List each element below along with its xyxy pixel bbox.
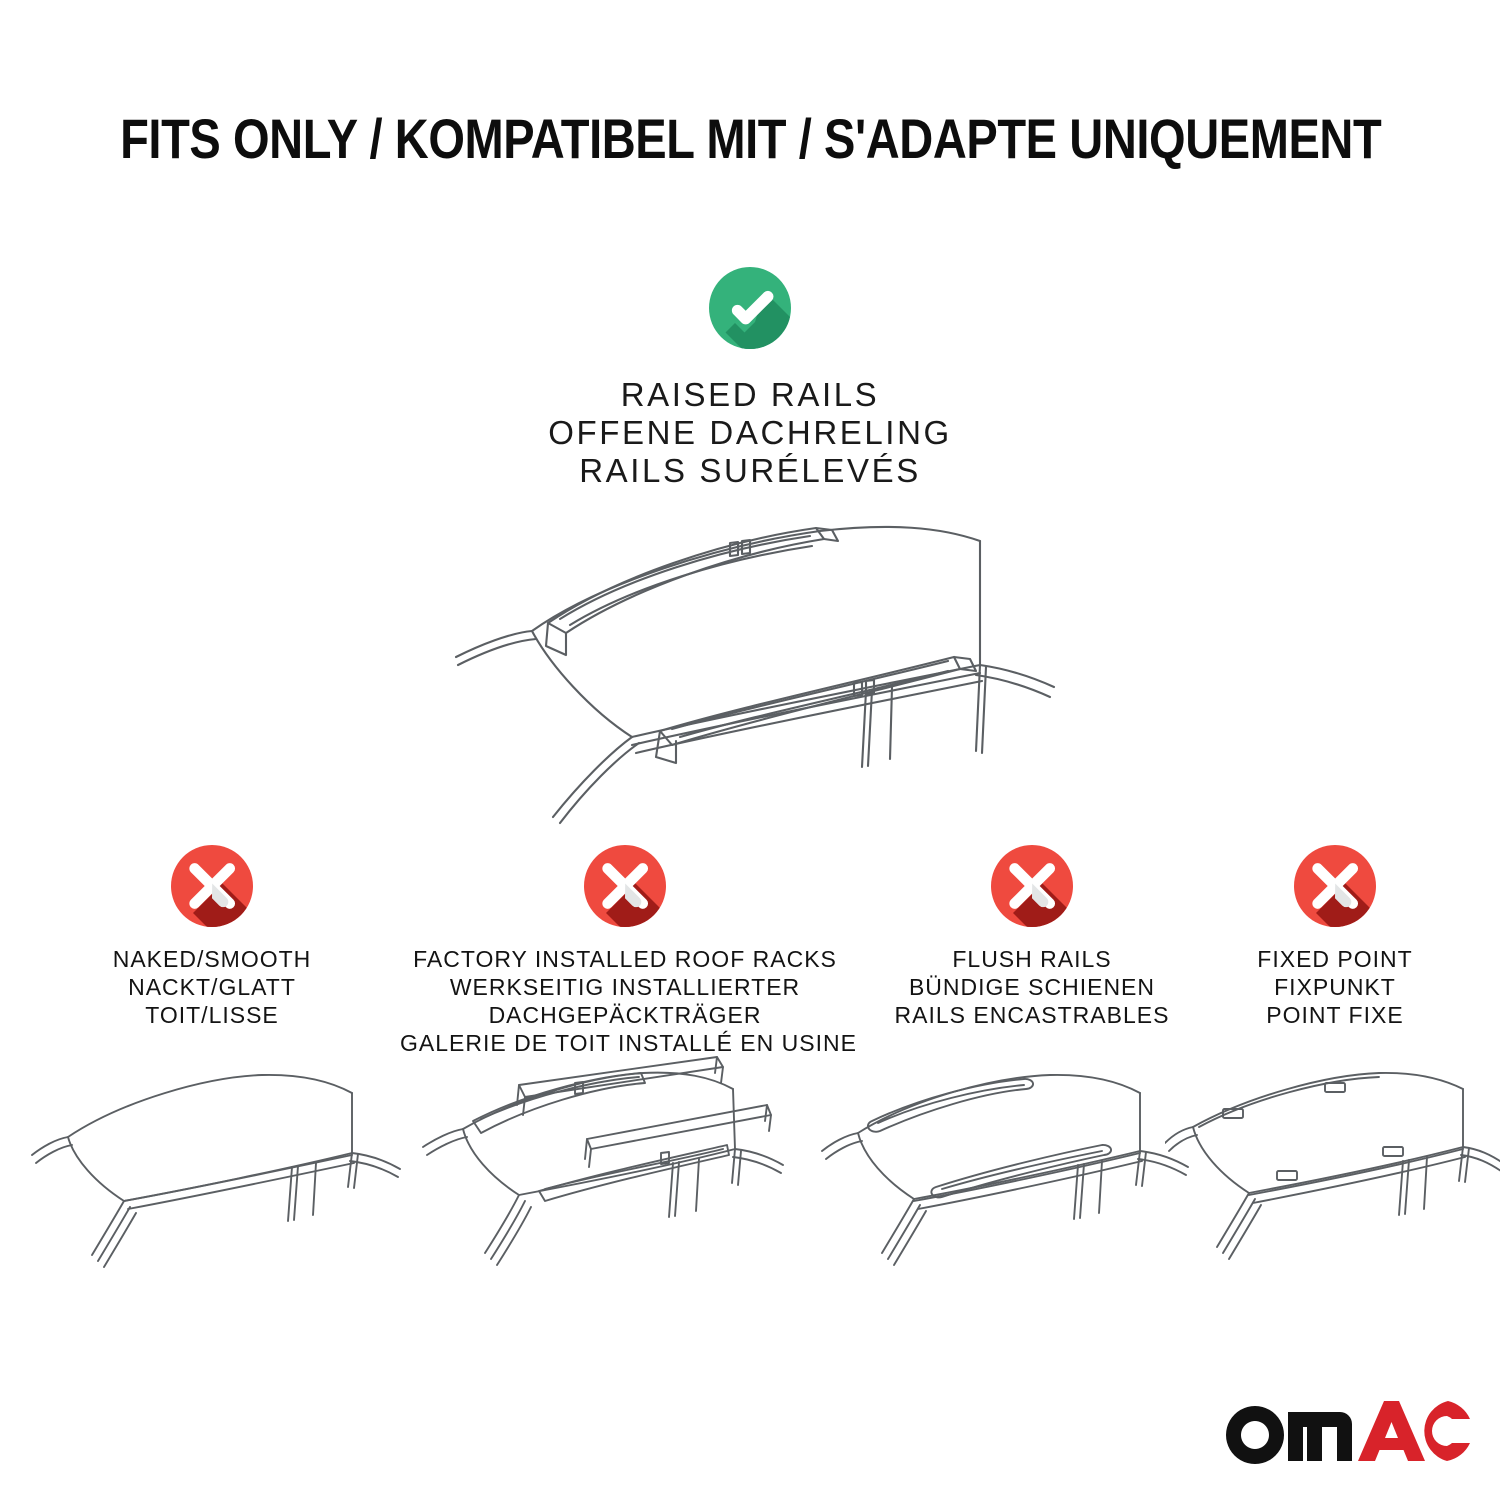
incompatible-caption: FLUSH RAILS BÜNDIGE SCHIENEN RAILS ENCAS… <box>857 945 1207 1029</box>
caption-line: FACTORY INSTALLED ROOF RACKS <box>400 945 850 973</box>
caption-line: FLUSH RAILS <box>857 945 1207 973</box>
caption-line: FIXED POINT <box>1200 945 1470 973</box>
caption-line: GALERIE DE TOIT INSTALLÉ EN USINE <box>400 1029 850 1057</box>
omac-logo <box>1222 1398 1470 1464</box>
incompatible-item-fixed-point: FIXED POINT FIXPUNKT POINT FIXE <box>1200 845 1470 1029</box>
incompatible-caption: NAKED/SMOOTH NACKT/GLATT TOIT/LISSE <box>22 945 402 1029</box>
caption-line: RAISED RAILS <box>0 376 1500 414</box>
check-circle-icon <box>709 267 791 349</box>
caption-line: WERKSEITIG INSTALLIERTER <box>400 973 850 1001</box>
car-roof-naked-smooth-drawing <box>30 1055 420 1285</box>
caption-line: TOIT/LISSE <box>22 1001 402 1029</box>
x-circle-icon <box>171 845 253 927</box>
x-circle-icon <box>1294 845 1376 927</box>
caption-line: BÜNDIGE SCHIENEN <box>857 973 1207 1001</box>
incompatible-caption: FIXED POINT FIXPUNKT POINT FIXE <box>1200 945 1470 1029</box>
car-roof-raised-rails-drawing <box>420 505 1080 835</box>
x-circle-icon <box>584 845 666 927</box>
caption-line: FIXPUNKT <box>1200 973 1470 1001</box>
page-title: FITS ONLY / KOMPATIBEL MIT / S'ADAPTE UN… <box>0 108 1500 170</box>
compatible-caption: RAISED RAILS OFFENE DACHRELING RAILS SUR… <box>0 376 1500 490</box>
incompatible-item-factory-roof-racks: FACTORY INSTALLED ROOF RACKS WERKSEITIG … <box>400 845 850 1057</box>
car-roof-flush-rails-drawing <box>818 1055 1208 1285</box>
caption-line: NACKT/GLATT <box>22 973 402 1001</box>
caption-line: RAILS ENCASTRABLES <box>857 1001 1207 1029</box>
car-roof-factory-roof-rack-drawing <box>415 1055 805 1285</box>
caption-line: DACHGEPÄCKTRÄGER <box>400 1001 850 1029</box>
incompatible-item-naked-smooth: NAKED/SMOOTH NACKT/GLATT TOIT/LISSE <box>22 845 402 1029</box>
caption-line: POINT FIXE <box>1200 1001 1470 1029</box>
caption-line: OFFENE DACHRELING <box>0 414 1500 452</box>
caption-line: RAILS SURÉLEVÉS <box>0 452 1500 490</box>
page-title-text: FITS ONLY / KOMPATIBEL MIT / S'ADAPTE UN… <box>120 108 1381 170</box>
caption-line: NAKED/SMOOTH <box>22 945 402 973</box>
x-circle-icon <box>991 845 1073 927</box>
incompatible-item-flush-rails: FLUSH RAILS BÜNDIGE SCHIENEN RAILS ENCAS… <box>857 845 1207 1029</box>
car-roof-fixed-point-drawing <box>1165 1055 1500 1285</box>
incompatible-caption: FACTORY INSTALLED ROOF RACKS WERKSEITIG … <box>400 945 850 1057</box>
